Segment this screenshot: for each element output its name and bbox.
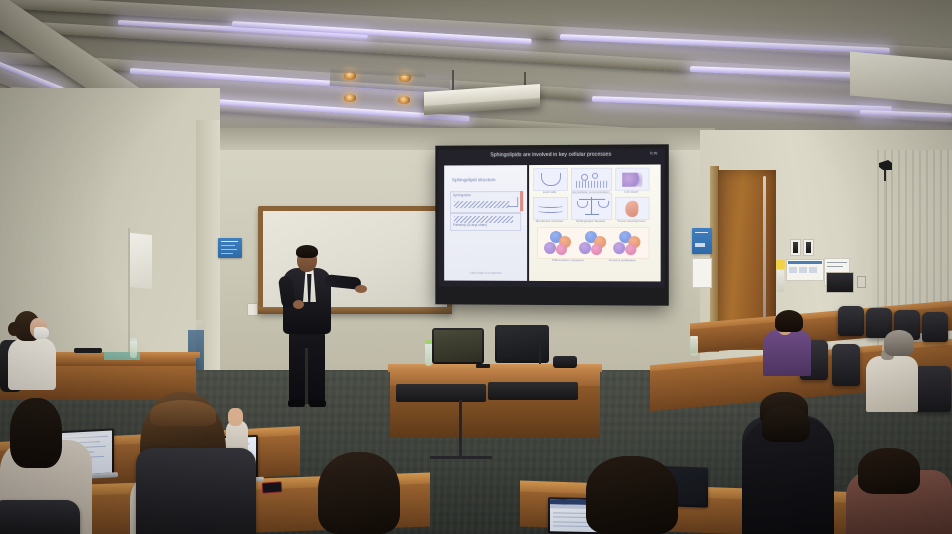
membrane-lipids (576, 181, 607, 188)
sphingolipid-rheostat-icon (571, 193, 612, 220)
camera-mount (884, 169, 886, 181)
mic-stand (539, 342, 541, 364)
placard-line (827, 266, 843, 267)
signal-molecule (581, 174, 588, 181)
chem-structure-box-1: Sphingosine (450, 191, 521, 213)
yellow-tag (776, 260, 785, 269)
membrane-structure-icon (533, 197, 568, 220)
sign-text-line (221, 249, 237, 250)
chem-label-2: Palmitoyl (N-acyl chain) (453, 223, 487, 227)
chair[interactable] (915, 366, 951, 412)
chair[interactable] (922, 312, 948, 342)
water-bottle (690, 338, 698, 356)
slide-title: Sphingolipids are involved in key cellul… (438, 151, 664, 158)
cell-row-caption-right: Growth & proliferation (599, 258, 645, 262)
attendee-masked-woman-left (8, 338, 56, 390)
av-instruction-placard (786, 259, 824, 281)
placard-thumb (809, 267, 817, 273)
pot-light (398, 96, 410, 104)
balance-pan-right (598, 201, 609, 208)
signal-molecule (592, 173, 598, 179)
water-bottle (425, 342, 432, 366)
bottle-cap (690, 336, 698, 339)
door-handle[interactable] (763, 176, 766, 326)
sign-text-line (221, 253, 233, 254)
attendee-front-center (318, 452, 400, 534)
chem-structure-box-2: Palmitoyl (N-acyl chain) (450, 213, 521, 231)
slide-left-panel: Sphingolipid structure Sphingosine Palmi… (444, 165, 527, 281)
cell (591, 244, 602, 255)
attendee-purple-shirt (763, 330, 811, 376)
presenter-shoe-right (309, 400, 326, 407)
slide-right-panel: Lipid rafts Intercellular communication … (529, 164, 661, 281)
speaker-bar-right (488, 382, 578, 400)
wall-touch-panel[interactable] (826, 272, 854, 293)
desk-phone[interactable] (553, 356, 577, 368)
presenter-leg-gap (305, 348, 308, 404)
water-bottle (130, 340, 137, 358)
wall-notice-right (692, 258, 712, 288)
left-wall-outlet (247, 303, 258, 316)
attendee-hair (775, 310, 803, 332)
apoptotic-cells (622, 173, 642, 187)
bottle-cap (425, 340, 432, 344)
cell (625, 244, 636, 255)
placard-header (788, 261, 822, 264)
flag (130, 233, 152, 289)
chair[interactable] (838, 306, 864, 336)
cell (613, 242, 625, 254)
sign-text-line (695, 232, 708, 233)
placard-line (827, 262, 847, 263)
cell-group (543, 231, 573, 255)
bilayer-line (538, 204, 563, 208)
slide-logo: icw (650, 150, 658, 155)
slide-left-heading: Sphingolipid structure (452, 177, 496, 182)
light-switch-plate-1[interactable] (790, 239, 801, 256)
power-outlet (857, 276, 866, 288)
chem-chain (454, 201, 509, 208)
smartphone[interactable] (262, 481, 283, 493)
cell-row-caption-left: Differentiation / apoptosis (545, 258, 591, 262)
chair[interactable] (136, 448, 256, 534)
attendee-hair-highlight (150, 400, 216, 426)
ceiling-soffit-right (850, 52, 952, 105)
chem-chain (454, 216, 513, 223)
attendee-head (762, 406, 810, 442)
device-on-desk (74, 348, 102, 353)
cell (556, 244, 567, 255)
projection-screen: Sphingolipids are involved in key cellul… (435, 144, 668, 305)
bottle-cap (130, 338, 137, 341)
light-switch-plate-2[interactable] (803, 239, 814, 256)
presenter-hair (296, 245, 318, 258)
sign-text-line (221, 241, 238, 242)
presenter-hand-left (293, 300, 304, 309)
microphone (476, 364, 490, 368)
embryo-shape (625, 201, 638, 217)
chem-label-1: Sphingosine (453, 193, 471, 197)
attendee-hand (228, 408, 243, 426)
lecture-hall-photo: Sphingolipids are involved in key cellul… (0, 0, 952, 534)
confidence-monitor (432, 328, 484, 364)
balance-beam (579, 199, 605, 200)
cell (544, 242, 556, 254)
presenter-hand-right (355, 285, 367, 293)
chair[interactable] (0, 500, 80, 534)
monitor-display (434, 330, 482, 362)
face-mask (34, 327, 49, 339)
attendee-hair-bun (8, 322, 20, 336)
attendee-hair (858, 448, 920, 494)
attendee-hair (884, 330, 914, 356)
attendee-front-right (586, 456, 678, 534)
icon-caption: Sphingolipid rheostat (571, 219, 610, 223)
sign-text-line (221, 245, 235, 246)
membrane-communication-icon (571, 168, 612, 191)
attendee-bearded-man (866, 356, 918, 412)
tripod-legs (430, 456, 492, 459)
tumor-development-icon (615, 197, 649, 220)
icon-caption: Membrane structure (533, 219, 566, 223)
presenter-shoe-left (288, 400, 305, 407)
fixture-rod (452, 70, 454, 92)
attendee-hair (10, 398, 62, 468)
icon-caption: Tumor development (615, 219, 647, 223)
chem-highlight-bar (520, 191, 523, 211)
cell-group (612, 231, 642, 255)
icon-caption: Cell death (615, 190, 647, 194)
cell-group (578, 231, 608, 255)
pot-light (344, 94, 356, 102)
tripod-column (459, 400, 462, 458)
chem-headgroup (508, 197, 518, 207)
wall-conduit (885, 168, 887, 318)
chair[interactable] (832, 344, 860, 386)
cell-division-row (537, 227, 649, 259)
bilayer-line (538, 209, 563, 213)
balance-base (585, 214, 599, 215)
sign-glyph (695, 243, 705, 247)
balance-pan-left (577, 201, 588, 208)
cell-death-icon (615, 168, 649, 191)
lipid-raft-icon (533, 168, 568, 191)
placard-thumb (789, 267, 797, 273)
placard-thumb (799, 267, 807, 273)
cell (579, 242, 591, 254)
slide-left-caption: Lipid chain is conserved (444, 271, 527, 275)
hand-sanitizer-dispenser[interactable] (777, 270, 784, 292)
raft-shape (541, 173, 561, 186)
speaker-bar-left (396, 384, 486, 402)
presentation-slide: Sphingolipids are involved in key cellul… (438, 148, 664, 287)
icon-caption: Lipid rafts (533, 190, 566, 194)
